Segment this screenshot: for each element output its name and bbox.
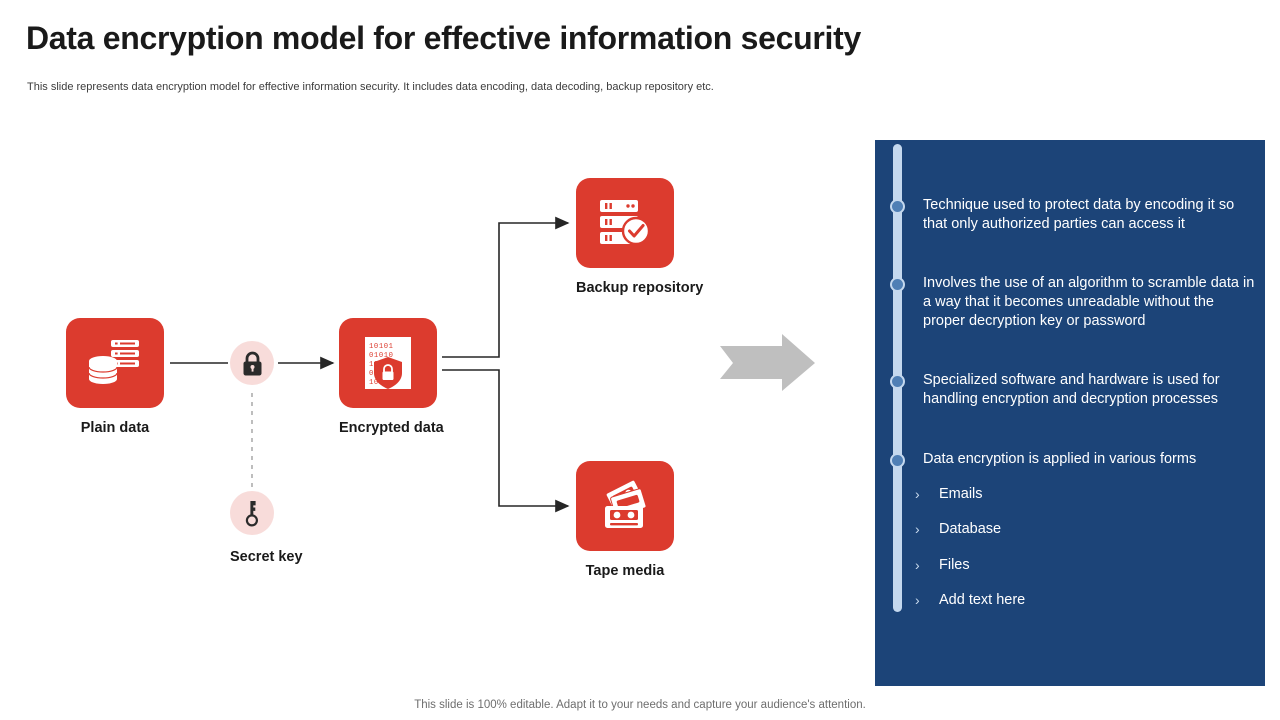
bullet-marker-icon — [890, 199, 905, 214]
footer-note: This slide is 100% editable. Adapt it to… — [0, 699, 1280, 711]
page-subtitle: This slide represents data encryption mo… — [27, 81, 714, 93]
svg-text:10101: 10101 — [369, 343, 394, 351]
plain-data-tile — [66, 318, 164, 408]
panel-bullet-text: Specialized software and hardware is use… — [923, 371, 1255, 409]
node-label-tape-media: Tape media — [576, 563, 674, 579]
bullet-marker-icon — [890, 374, 905, 389]
panel-sub-item-label: Emails — [939, 486, 983, 502]
bullet-marker-icon — [890, 453, 905, 468]
panel-bullet-text: Involves the use of an algorithm to scra… — [923, 274, 1255, 331]
bullet-marker-icon — [890, 277, 905, 292]
chevron-right-icon: › — [915, 486, 920, 502]
node-backup-repository[interactable]: Backup repository — [576, 178, 703, 296]
tape-media-tile — [576, 461, 674, 551]
node-label-backup-repository: Backup repository — [576, 280, 703, 296]
node-lock[interactable] — [230, 341, 274, 385]
encrypted-data-tile: 10101 01010 10101 01010 10101 — [339, 318, 437, 408]
padlock-icon — [242, 351, 263, 376]
page-title: Data encryption model for effective info… — [26, 20, 861, 57]
info-panel: Technique used to protect data by encodi… — [875, 140, 1265, 686]
key-icon — [243, 500, 261, 527]
panel-sub-item-label: Files — [939, 557, 970, 573]
node-tape-media[interactable]: Tape media — [576, 461, 674, 579]
node-label-plain-data: Plain data — [66, 420, 164, 436]
server-check-icon — [597, 197, 653, 249]
panel-bullet-text: Technique used to protect data by encodi… — [923, 196, 1255, 234]
secret-key-circle — [230, 491, 274, 535]
slide-root: Data encryption model for effective info… — [0, 0, 1280, 720]
database-documents-icon — [87, 337, 143, 389]
panel-sub-item-label: Add text here — [939, 592, 1025, 608]
chevron-right-icon: › — [915, 521, 920, 537]
backup-repository-tile — [576, 178, 674, 268]
node-label-secret-key: Secret key — [230, 549, 303, 565]
node-plain-data[interactable]: Plain data — [66, 318, 164, 436]
node-label-encrypted-data: Encrypted data — [339, 420, 444, 436]
binary-shield-lock-icon: 10101 01010 10101 01010 10101 — [362, 335, 414, 391]
node-secret-key[interactable]: Secret key — [230, 491, 303, 565]
chevron-right-icon: › — [915, 592, 920, 608]
lock-circle — [230, 341, 274, 385]
node-encrypted-data[interactable]: 10101 01010 10101 01010 10101 Encrypted … — [339, 318, 444, 436]
panel-sub-item-label: Database — [939, 521, 1001, 537]
panel-bullet-text: Data encryption is applied in various fo… — [923, 450, 1255, 469]
encryption-flow-diagram: Plain data Secret key — [0, 110, 875, 685]
tape-cassette-icon — [597, 479, 653, 533]
chevron-right-icon: › — [915, 557, 920, 573]
